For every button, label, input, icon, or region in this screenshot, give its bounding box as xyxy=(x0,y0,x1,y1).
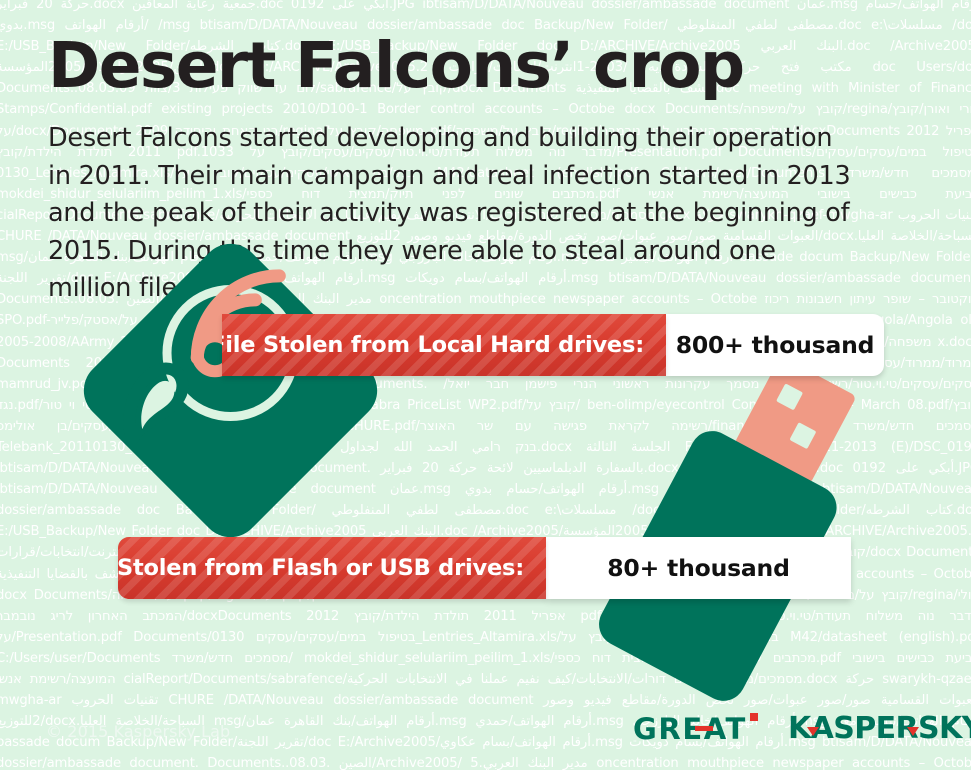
stat-bar-flash-usb-drives: Files Stolen from Flash or USB drives: 8… xyxy=(118,537,851,599)
usb-connector-hole xyxy=(776,383,803,410)
intro-paragraph: Desert Falcons started developing and bu… xyxy=(48,120,858,308)
stat-label-container: File Stolen from Local Hard drives: xyxy=(222,314,666,376)
copyright-notice: © 2015 Kaspersky Lab xyxy=(46,722,230,741)
stat-value: 80+ thousand xyxy=(607,554,789,582)
usb-connector-hole xyxy=(789,422,816,449)
stat-value: 800+ thousand xyxy=(676,331,875,359)
kaspersky-logo-accent-triangle xyxy=(807,727,819,736)
great-logo-accent-bar xyxy=(695,726,713,731)
hard-drive-read-arm xyxy=(122,355,214,447)
stat-label: File Stolen from Local Hard drives: xyxy=(222,332,666,358)
stat-value-container: 800+ thousand xyxy=(666,314,884,376)
stat-value-container: 80+ thousand xyxy=(546,537,851,599)
kaspersky-logo: KASPERSKY lab xyxy=(788,711,971,746)
stat-bar-local-hard-drives: File Stolen from Local Hard drives: 800+… xyxy=(222,314,884,376)
great-logo-text: GREAT xyxy=(633,712,747,746)
great-logo-accent-square xyxy=(750,713,758,721)
stat-label: Files Stolen from Flash or USB drives: xyxy=(118,555,546,581)
kaspersky-logo-accent-triangle xyxy=(907,727,919,736)
stat-label-container: Files Stolen from Flash or USB drives: xyxy=(118,537,546,599)
infographic-canvas: حركة 20 فبراير.docx جمعية رعاية المعاقين… xyxy=(0,0,971,770)
great-logo: GREAT xyxy=(633,712,747,746)
page-title: Desert Falcons’ crop xyxy=(48,32,748,100)
